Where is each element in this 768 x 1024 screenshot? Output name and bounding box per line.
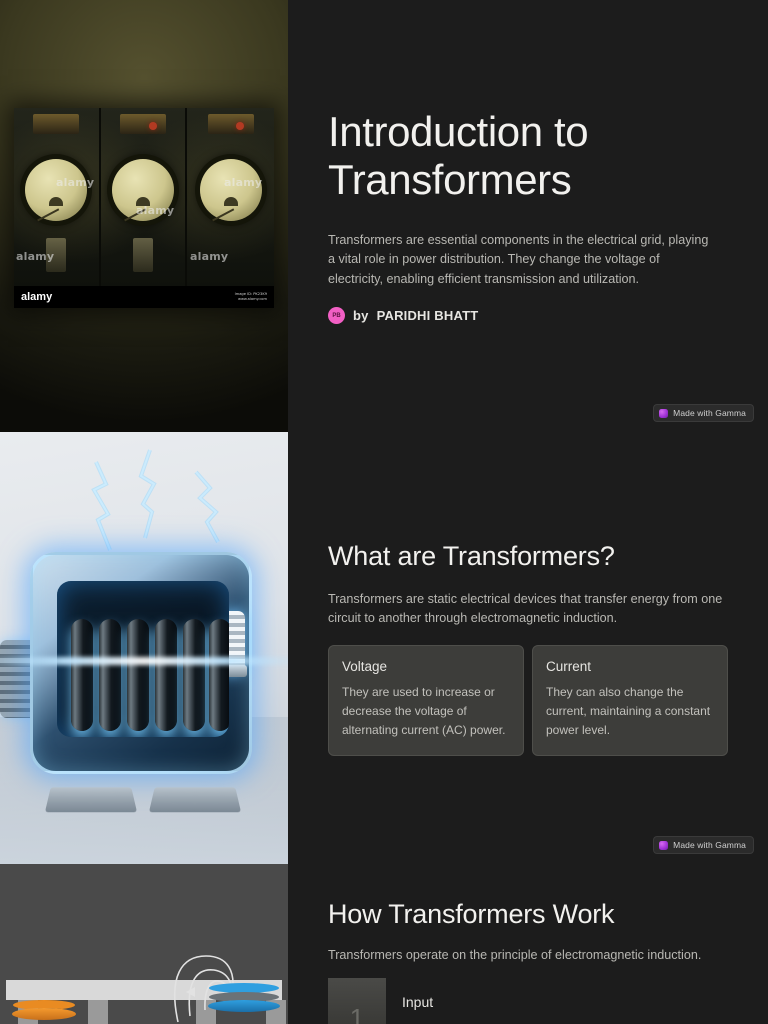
switchboard-bay [101, 108, 188, 286]
slide-how-transformers-work: How Transformers Work Transformers opera… [0, 864, 768, 1024]
alamy-watermark: alamy [16, 250, 54, 263]
winding-cylinder [155, 619, 177, 731]
avatar: PB [328, 307, 345, 324]
card-title: Current [546, 659, 714, 674]
byline: PB by PARIDHI BHATT [328, 307, 728, 324]
photo-content: alamy alamy alamy alamy alamy [14, 108, 274, 286]
winding-cylinder [71, 619, 93, 731]
byline-prefix: by [353, 308, 369, 323]
card-title: Voltage [342, 659, 510, 674]
alamy-watermark: alamy [224, 176, 262, 189]
alamy-watermark: alamy [136, 204, 174, 217]
winding-cylinder [127, 619, 149, 731]
slide-how-media [0, 864, 288, 1024]
secondary-coil [208, 1000, 280, 1012]
made-with-gamma-badge[interactable]: Made with Gamma [653, 836, 754, 854]
alamy-watermark: alamy [56, 176, 94, 189]
vintage-switchboard-photo: alamy alamy alamy alamy alamy alamy Imag… [14, 108, 274, 308]
terminal-block-icon [120, 114, 166, 134]
photo-watermark-bar: alamy Image ID: PK23K9 www.alamy.com [14, 286, 274, 308]
alamy-watermark: alamy [190, 250, 228, 263]
winding-cylinder [209, 619, 229, 731]
intro-paragraph: Transformers are essential components in… [328, 231, 718, 290]
step-label: Input [402, 978, 433, 1010]
section-title: What are Transformers? [328, 540, 728, 572]
winding-cylinder [183, 619, 205, 731]
made-with-gamma-badge[interactable]: Made with Gamma [653, 404, 754, 422]
photo-source-url: www.alamy.com [238, 297, 267, 301]
feature-card-row: Voltage They are used to increase or dec… [328, 645, 728, 757]
gamma-logo-icon [659, 841, 668, 850]
card-text: They are used to increase or decrease th… [342, 683, 510, 741]
mounting-foot [45, 787, 137, 812]
step-list: 1 Input [328, 978, 728, 1024]
page-title: Introduction to Transformers [328, 108, 728, 205]
slide-what-body: What are Transformers? Transformers are … [288, 432, 768, 864]
presentation-deck: alamy alamy alamy alamy alamy alamy Imag… [0, 0, 768, 1024]
slide-what-are-transformers: What are Transformers? Transformers are … [0, 432, 768, 864]
section-title: How Transformers Work [328, 898, 728, 930]
step-number-ribbon: 1 [328, 978, 386, 1024]
slide-intro: alamy alamy alamy alamy alamy alamy Imag… [0, 0, 768, 432]
feature-card-current[interactable]: Current They can also change the current… [532, 645, 728, 757]
transformer-flux-diagram [0, 864, 288, 1024]
mounting-foot [149, 787, 241, 812]
primary-coil [12, 1008, 76, 1020]
energy-glow-line [0, 657, 288, 665]
slide-what-media [0, 432, 288, 864]
gamma-logo-icon [659, 409, 668, 418]
photo-image-id: Image ID: PK23K9 [235, 292, 267, 296]
winding-cylinder [99, 619, 121, 731]
slide-intro-media: alamy alamy alamy alamy alamy alamy Imag… [0, 0, 288, 432]
analog-gauge-icon [200, 159, 262, 221]
section-paragraph: Transformers are static electrical devic… [328, 590, 728, 629]
glowing-3d-transformer-render [0, 432, 288, 864]
knife-switch-icon [133, 238, 153, 272]
analog-gauge-icon [25, 159, 87, 221]
slide-intro-body: Introduction to Transformers Transformer… [288, 0, 768, 432]
step-number: 1 [328, 1003, 386, 1024]
terminal-block-icon [208, 114, 254, 134]
photo-meta: Image ID: PK23K9 www.alamy.com [235, 292, 267, 303]
made-with-gamma-label: Made with Gamma [673, 408, 746, 418]
avatar-initials: PB [332, 313, 340, 319]
radiator-fins [0, 640, 34, 718]
alamy-logo: alamy [21, 291, 52, 303]
section-paragraph: Transformers operate on the principle of… [328, 946, 728, 966]
made-with-gamma-label: Made with Gamma [673, 840, 746, 850]
feature-card-voltage[interactable]: Voltage They are used to increase or dec… [328, 645, 524, 757]
slide-how-body: How Transformers Work Transformers opera… [288, 864, 768, 1024]
author-name: PARIDHI BHATT [377, 308, 479, 323]
terminal-block-icon [33, 114, 79, 134]
card-text: They can also change the current, mainta… [546, 683, 714, 741]
